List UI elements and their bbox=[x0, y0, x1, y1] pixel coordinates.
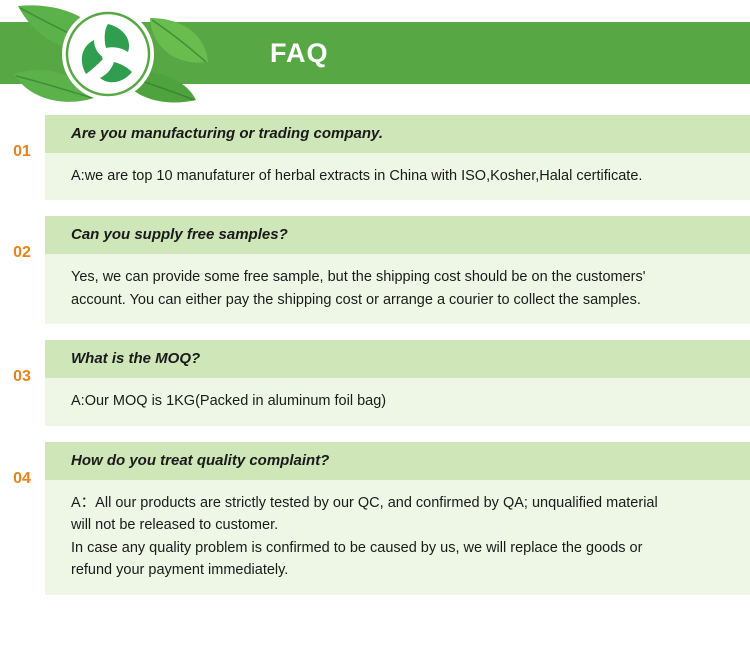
faq-item: 04 How do you treat quality complaint? A… bbox=[0, 442, 750, 595]
faq-answer-line: A:Our MOQ is 1KG(Packed in aluminum foil… bbox=[71, 390, 728, 412]
faq-question: Can you supply free samples? bbox=[45, 216, 750, 254]
faq-number: 02 bbox=[5, 234, 39, 272]
faq-answer-line: account. You can either pay the shipping… bbox=[71, 289, 728, 311]
faq-item: 01 Are you manufacturing or trading comp… bbox=[0, 115, 750, 200]
faq-answer-line: Yes, we can provide some free sample, bu… bbox=[71, 266, 728, 288]
page-header: FAQ bbox=[0, 0, 750, 115]
faq-question: What is the MOQ? bbox=[45, 340, 750, 378]
faq-item: 03 What is the MOQ? A:Our MOQ is 1KG(Pac… bbox=[0, 340, 750, 425]
faq-item: 02 Can you supply free samples? Yes, we … bbox=[0, 216, 750, 324]
page-title: FAQ bbox=[270, 38, 329, 69]
faq-answer: A:Our MOQ is 1KG(Packed in aluminum foil… bbox=[45, 378, 750, 425]
faq-question: How do you treat quality complaint? bbox=[45, 442, 750, 480]
faq-answer-line: A：All our products are strictly tested b… bbox=[71, 492, 728, 514]
faq-list: 01 Are you manufacturing or trading comp… bbox=[0, 115, 750, 611]
faq-answer: A：All our products are strictly tested b… bbox=[45, 480, 750, 595]
faq-answer-line: will not be released to customer. bbox=[71, 514, 728, 536]
logo-icon bbox=[0, 0, 215, 115]
faq-number: 04 bbox=[5, 460, 39, 498]
faq-number: 03 bbox=[5, 358, 39, 396]
faq-answer-line: A:we are top 10 manufaturer of herbal ex… bbox=[71, 165, 728, 187]
faq-page: FAQ bbox=[0, 0, 750, 668]
faq-answer-line: refund your payment immediately. bbox=[71, 559, 728, 581]
leaf-circle-logo bbox=[0, 0, 215, 115]
faq-answer-line: In case any quality problem is confirmed… bbox=[71, 537, 728, 559]
faq-question: Are you manufacturing or trading company… bbox=[45, 115, 750, 153]
faq-answer: Yes, we can provide some free sample, bu… bbox=[45, 254, 750, 324]
faq-number: 01 bbox=[5, 133, 39, 171]
faq-answer: A:we are top 10 manufaturer of herbal ex… bbox=[45, 153, 750, 200]
